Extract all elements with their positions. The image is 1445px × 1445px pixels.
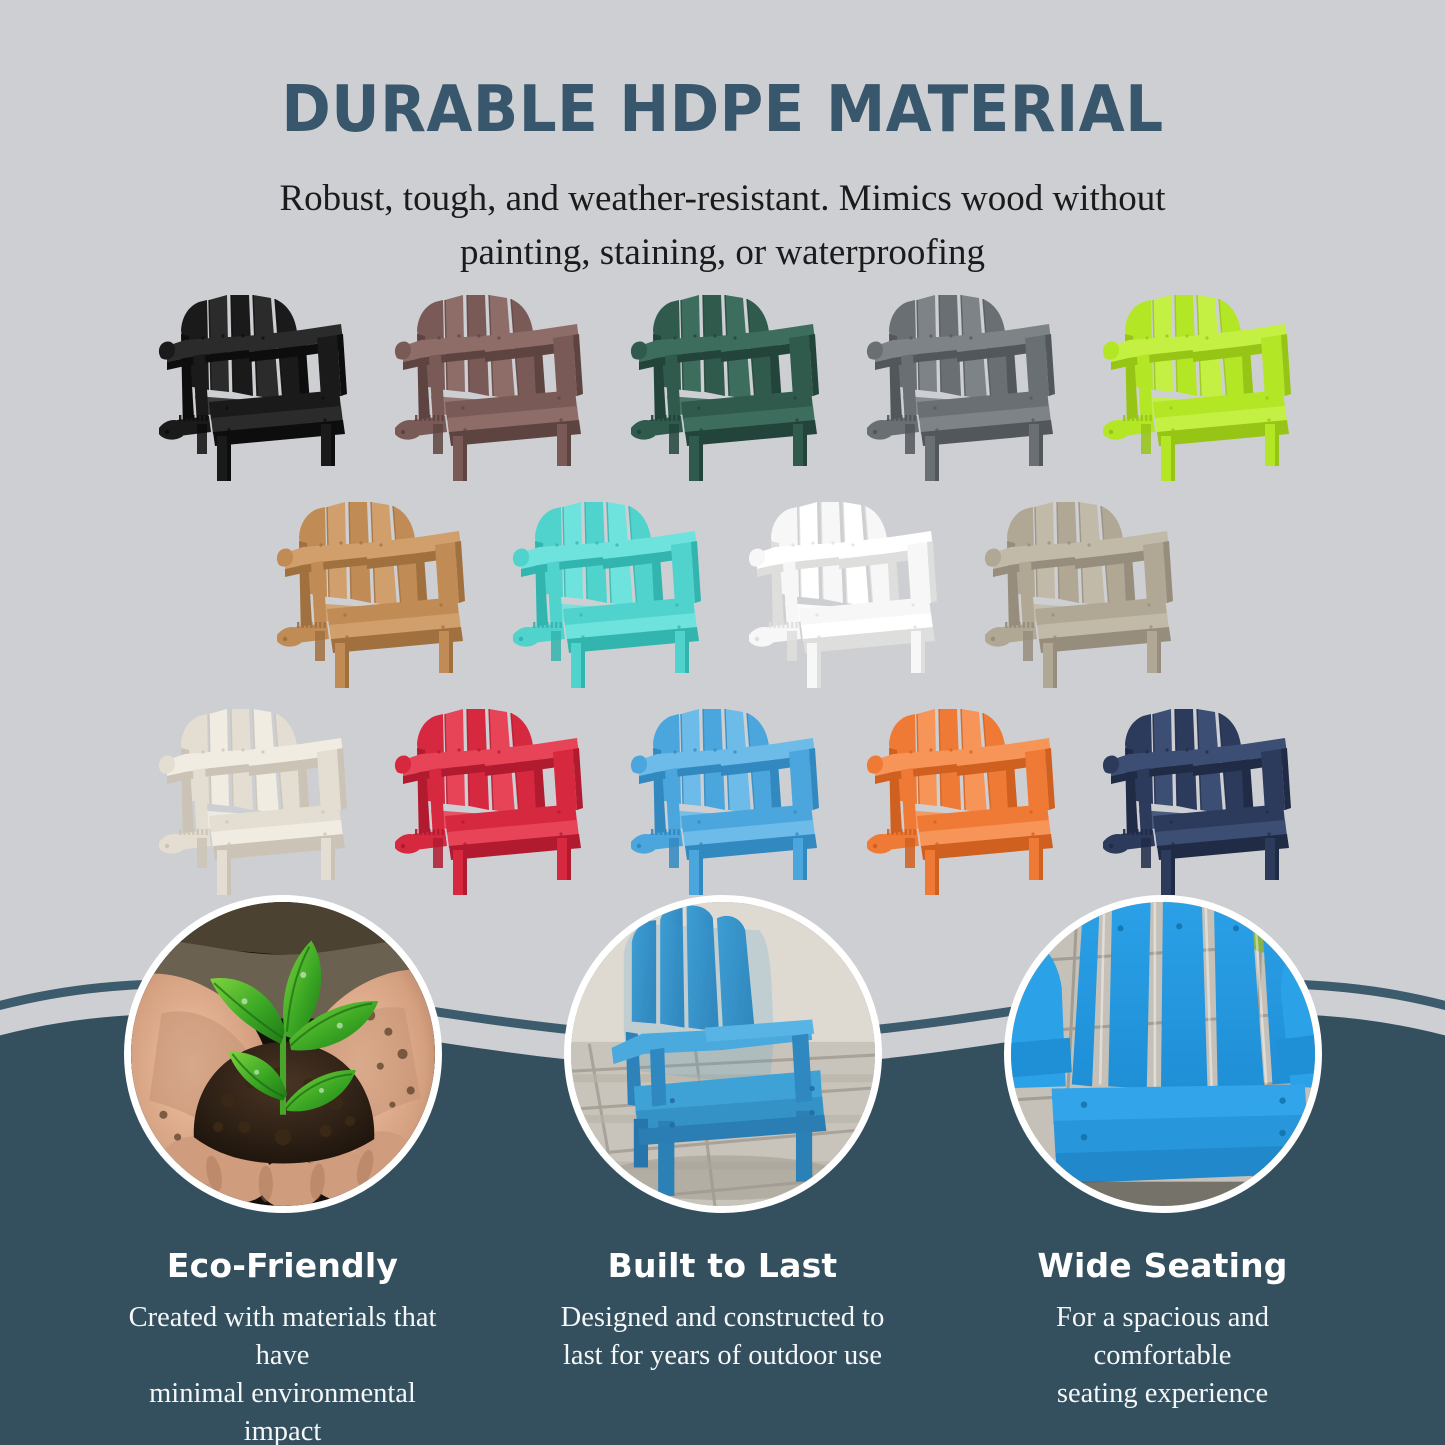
adirondack-chair-swatch <box>859 278 1059 483</box>
chair-color-grid <box>0 276 1445 897</box>
product-infographic: DURABLE HDPE MATERIAL Robust, tough, and… <box>0 0 1445 1445</box>
subtitle-line-1: Robust, tough, and weather-resistant. Mi… <box>228 172 1218 226</box>
chair-swatch-white[interactable] <box>723 483 959 690</box>
feature-description: Created with materials that have minimal… <box>118 1285 448 1445</box>
chair-row-3 <box>0 690 1445 897</box>
adirondack-chair-swatch <box>1095 692 1295 897</box>
header-block: DURABLE HDPE MATERIAL Robust, tough, and… <box>0 0 1445 279</box>
feature-description: Designed and constructed to last for yea… <box>558 1285 888 1375</box>
feature-desc-line-2: seating experience <box>998 1375 1328 1413</box>
feature-title: Built to Last <box>558 1213 888 1285</box>
feature-desc-line-2: last for years of outdoor use <box>558 1337 888 1375</box>
chair-swatch-ivory[interactable] <box>133 690 369 897</box>
adirondack-chair-swatch <box>1095 278 1295 483</box>
feature-list: Eco-Friendly Created with materials that… <box>0 895 1445 1445</box>
feature-desc-line-1: Designed and constructed to <box>558 1299 888 1337</box>
chair-swatch-light-blue[interactable] <box>605 690 841 897</box>
patio-chair-photo-circle <box>564 895 882 1213</box>
adirondack-chair-swatch <box>387 278 587 483</box>
chair-swatch-lime-green[interactable] <box>1077 276 1313 483</box>
feature-desc-line-1: Created with materials that have <box>118 1299 448 1375</box>
chair-swatch-brown[interactable] <box>369 276 605 483</box>
chair-swatch-dark-green[interactable] <box>605 276 841 483</box>
chair-swatch-weathered-wood[interactable] <box>959 483 1195 690</box>
chair-swatch-black[interactable] <box>133 276 369 483</box>
adirondack-chair-swatch <box>623 692 823 897</box>
chair-row-2 <box>0 483 1445 690</box>
chair-swatch-gray[interactable] <box>841 276 1077 483</box>
seedling-photo-circle <box>124 895 442 1213</box>
adirondack-chair-swatch <box>859 692 1059 897</box>
feature-desc-line-1: For a spacious and comfortable <box>998 1299 1328 1375</box>
chair-swatch-navy-blue[interactable] <box>1077 690 1313 897</box>
feature-description: For a spacious and comfortable seating e… <box>998 1285 1328 1413</box>
feature-wide-seating: Wide Seating For a spacious and comforta… <box>998 895 1328 1445</box>
page-title: DURABLE HDPE MATERIAL <box>51 0 1395 142</box>
wide-seat-closeup-circle <box>1004 895 1322 1213</box>
adirondack-chair-swatch <box>151 278 351 483</box>
chair-swatch-orange[interactable] <box>841 690 1077 897</box>
blue-chair-seat-closeup-icon <box>1011 902 1315 1206</box>
adirondack-chair-swatch <box>505 485 705 690</box>
adirondack-chair-swatch <box>269 485 469 690</box>
feature-built-to-last: Built to Last Designed and constructed t… <box>558 895 888 1445</box>
blue-adirondack-chair-patio-icon <box>571 902 875 1206</box>
chair-swatch-turquoise[interactable] <box>487 483 723 690</box>
adirondack-chair-swatch <box>623 278 823 483</box>
chair-swatch-teak[interactable] <box>251 483 487 690</box>
adirondack-chair-swatch <box>977 485 1177 690</box>
chair-row-1 <box>0 276 1445 483</box>
adirondack-chair-swatch <box>151 692 351 897</box>
feature-title: Wide Seating <box>998 1213 1328 1285</box>
adirondack-chair-swatch <box>741 485 941 690</box>
feature-desc-line-2: minimal environmental impact <box>118 1375 448 1445</box>
page-subtitle: Robust, tough, and weather-resistant. Mi… <box>228 142 1218 279</box>
feature-eco-friendly: Eco-Friendly Created with materials that… <box>118 895 448 1445</box>
subtitle-line-2: painting, staining, or waterproofing <box>228 226 1218 280</box>
chair-swatch-red[interactable] <box>369 690 605 897</box>
feature-title: Eco-Friendly <box>118 1213 448 1285</box>
adirondack-chair-swatch <box>387 692 587 897</box>
hands-holding-seedling-icon <box>131 902 435 1206</box>
